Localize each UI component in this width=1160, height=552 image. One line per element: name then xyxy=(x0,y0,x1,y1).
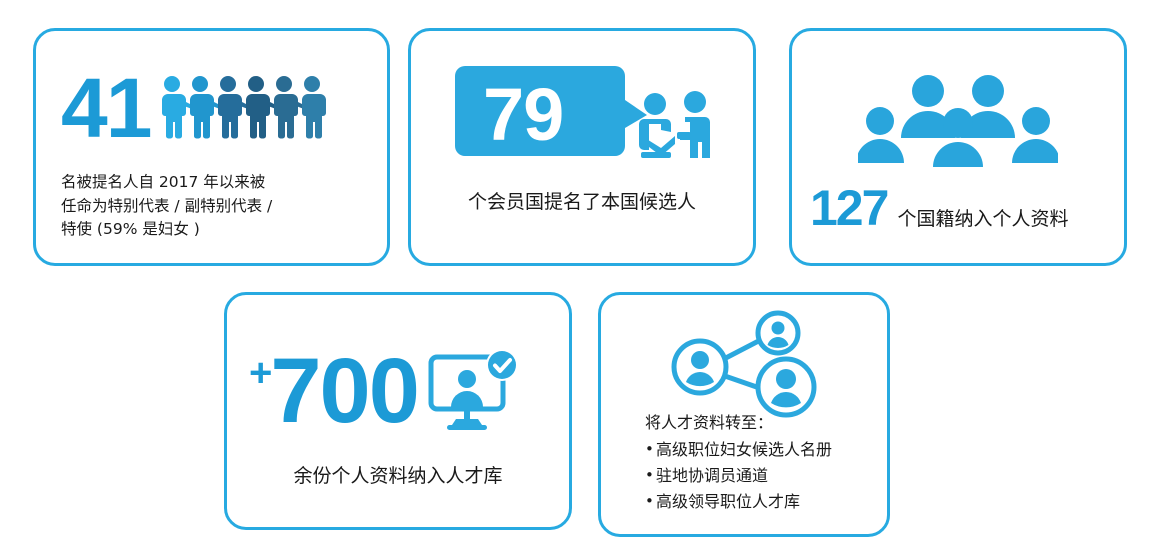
card3-caption: 个国籍纳入个人资料 xyxy=(897,206,1068,233)
stat-card-profiles-talent-pool: + 700 余份 xyxy=(224,292,572,530)
people-row-icon xyxy=(158,75,326,146)
list-item: 驻地协调员通道 xyxy=(645,463,895,489)
card4-big-number: 700 xyxy=(270,345,418,437)
card2-big-number: 79 xyxy=(483,78,563,152)
network-people-icon xyxy=(601,309,887,424)
card5-list: 高级职位妇女候选人名册 驻地协调员通道 高级领导职位人才库 xyxy=(645,437,895,515)
card1-number-icon-row: 41 xyxy=(61,66,326,150)
card5-heading: 将人才资料转至： xyxy=(645,411,895,435)
stat-card-nationalities: 127 个国籍纳入个人资料 xyxy=(789,28,1127,266)
list-item: 高级领导职位人才库 xyxy=(645,489,895,515)
card3-big-number: 127 xyxy=(810,183,887,233)
card3-number-caption-row: 127 个国籍纳入个人资料 xyxy=(810,183,1068,233)
card4-plus-prefix: + xyxy=(249,353,270,393)
card2-caption: 个会员国提名了本国候选人 xyxy=(411,189,753,216)
card4-number-icon-row: + 700 xyxy=(249,343,520,438)
card1-caption: 名被提名人自 2017 年以来被 任命为特别代表 / 副特别代表 / 特使 (5… xyxy=(61,171,376,242)
list-item: 高级职位妇女候选人名册 xyxy=(645,437,895,463)
stat-card-nominees-appointed: 41 xyxy=(33,28,390,266)
infographic-canvas: 41 xyxy=(0,0,1160,552)
card5-text-block: 将人才资料转至： 高级职位妇女候选人名册 驻地协调员通道 高级领导职位人才库 xyxy=(645,411,895,515)
stat-card-talent-transfer: 将人才资料转至： 高级职位妇女候选人名册 驻地协调员通道 高级领导职位人才库 xyxy=(598,292,890,537)
stat-card-member-states: 79 个会员国提名了本国候选人 xyxy=(408,28,756,266)
monitor-verified-profile-icon xyxy=(428,349,520,438)
people-group-icon xyxy=(792,69,1124,174)
card4-caption: 余份个人资料纳入人才库 xyxy=(227,463,569,490)
card1-big-number: 41 xyxy=(61,66,150,150)
